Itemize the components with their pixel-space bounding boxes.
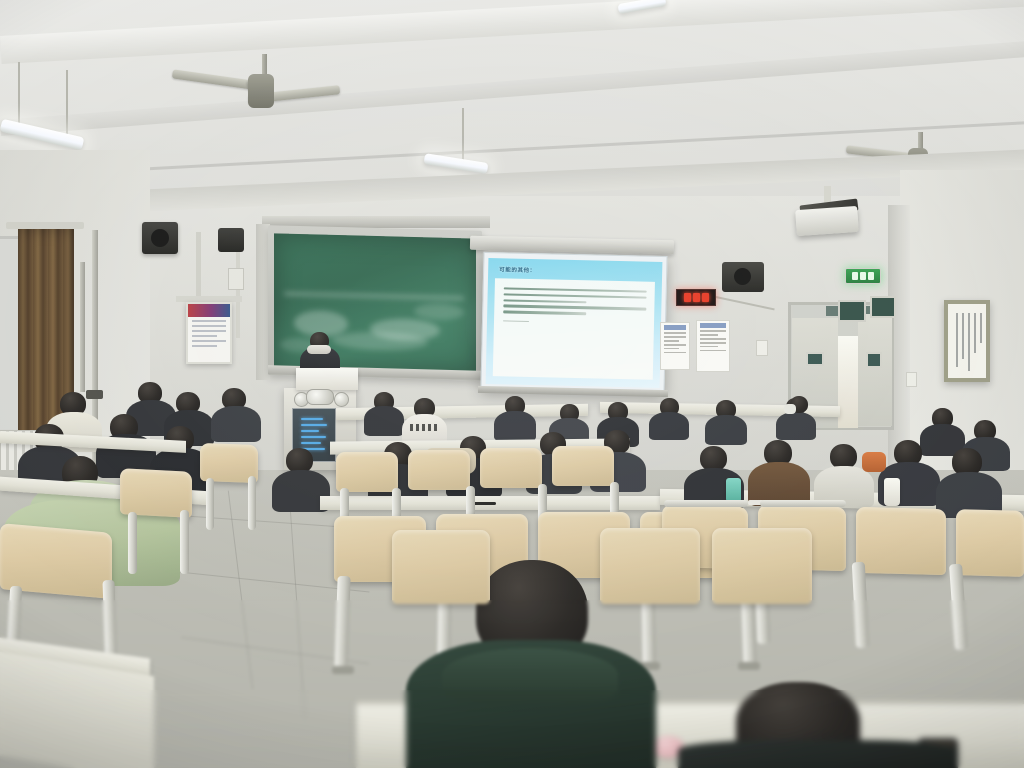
door-window-left	[806, 352, 824, 366]
exit-glyph	[868, 272, 874, 280]
slide-text-line	[503, 305, 646, 311]
slide-text-line	[503, 311, 586, 315]
notice-line	[700, 338, 726, 340]
slide-text-line	[504, 293, 647, 299]
chair-foreground-3[interactable]	[712, 528, 812, 604]
led-glyph	[693, 293, 700, 302]
wall-conduit-secondary	[236, 252, 240, 338]
podium-logo-plate	[306, 389, 334, 405]
led-glyph	[684, 293, 691, 302]
wall-speaker-left-b	[218, 228, 244, 252]
chair-armrest	[664, 500, 748, 507]
orange-item	[862, 452, 886, 472]
notice-line	[700, 330, 726, 332]
speaker-cone	[151, 229, 169, 247]
notice-header	[664, 325, 686, 330]
poster-text-line	[192, 345, 217, 347]
fan-hub	[248, 74, 274, 108]
chair-leg	[180, 510, 189, 574]
wall-pipe-secondary	[80, 262, 85, 392]
notice-line	[664, 352, 686, 354]
jacket-lettering	[410, 424, 440, 431]
student-body	[776, 412, 816, 440]
framed-calligraphy-scroll	[944, 300, 990, 382]
wall-junction-box	[228, 268, 244, 290]
ceiling-projector	[795, 206, 859, 236]
projection-screen: 可能的其他：	[480, 252, 667, 394]
wall-outlet-plate[interactable]	[906, 372, 917, 387]
notice-header	[700, 323, 726, 328]
poster-text-line	[192, 320, 226, 322]
speaker-cone	[734, 268, 751, 285]
chair-right-3[interactable]	[856, 507, 946, 575]
face-mask	[784, 404, 796, 414]
notice-board-right	[696, 320, 730, 372]
exit-glyph	[860, 272, 866, 280]
student-body	[211, 406, 261, 442]
fan-rod	[262, 54, 267, 74]
light-hanger-2	[66, 70, 68, 142]
notice-line	[664, 348, 679, 350]
exit-glyph	[852, 272, 858, 280]
classroom-door-right-leaf[interactable]	[858, 314, 892, 426]
poster-text-line	[192, 335, 217, 337]
lectern-laptop	[296, 368, 358, 390]
hoodie-hood	[442, 648, 618, 702]
chair-armrest	[760, 500, 846, 507]
chair-foreground-1[interactable]	[392, 530, 490, 604]
notice-line	[700, 350, 726, 352]
light-hanger-1	[18, 62, 20, 128]
slide-text-line	[504, 287, 647, 293]
wall-switch-plate[interactable]	[756, 340, 768, 356]
slide-footnote	[503, 320, 529, 322]
notice-line	[664, 336, 686, 338]
notice-line	[700, 334, 718, 336]
poster-text-line	[192, 330, 226, 332]
chair-leg	[206, 478, 214, 530]
curtain-rod	[6, 222, 84, 229]
notice-board-left	[660, 322, 690, 370]
pipe-valve	[86, 390, 103, 399]
led-glyph	[702, 293, 709, 302]
chair-mid-rear-2[interactable]	[408, 450, 470, 490]
white-thermos-cup[interactable]	[884, 478, 900, 506]
presentation-slide: 可能的其他：	[486, 258, 663, 388]
chair-mid-rear-3[interactable]	[480, 448, 542, 488]
student-foreground-right	[678, 740, 958, 768]
slide-text-line	[503, 299, 586, 303]
student-body	[649, 412, 689, 440]
slide-body	[493, 278, 655, 380]
notice-line	[700, 342, 726, 344]
chair-mid-rear-4[interactable]	[552, 446, 614, 486]
notice-line	[664, 340, 679, 342]
notice-line	[664, 332, 686, 334]
presenter-scarf	[307, 345, 331, 354]
framed-values-poster	[186, 302, 232, 364]
lecture-hall-photograph: 可能的其他：	[0, 0, 1024, 768]
emergency-exit-sign	[845, 268, 881, 284]
door-transom-right	[870, 296, 896, 318]
chair-leg	[128, 512, 137, 574]
chair-foreground-2[interactable]	[600, 528, 700, 604]
poster-header	[188, 304, 230, 317]
chair-foot	[738, 662, 760, 670]
student-body	[364, 406, 404, 436]
chair-leg	[248, 476, 256, 530]
notice-line	[700, 346, 718, 348]
chair-mid-rear-1[interactable]	[336, 452, 398, 492]
door-gap-daylight	[838, 336, 858, 428]
wall-speaker-left-a	[142, 222, 178, 254]
chair-foot	[332, 666, 354, 674]
student-body	[494, 411, 536, 441]
door-transom-left	[838, 300, 866, 322]
door-window-right	[866, 352, 882, 368]
wall-speaker-right	[722, 262, 764, 292]
poster-text-line	[192, 325, 226, 327]
student-body	[705, 415, 747, 445]
podium-dial-right[interactable]	[334, 392, 349, 407]
chair-right-4[interactable]	[956, 509, 1024, 577]
notice-line	[664, 344, 686, 346]
red-led-scrolling-sign	[676, 289, 716, 306]
poster-text-line	[192, 340, 226, 342]
light-hanger-3	[462, 108, 464, 160]
